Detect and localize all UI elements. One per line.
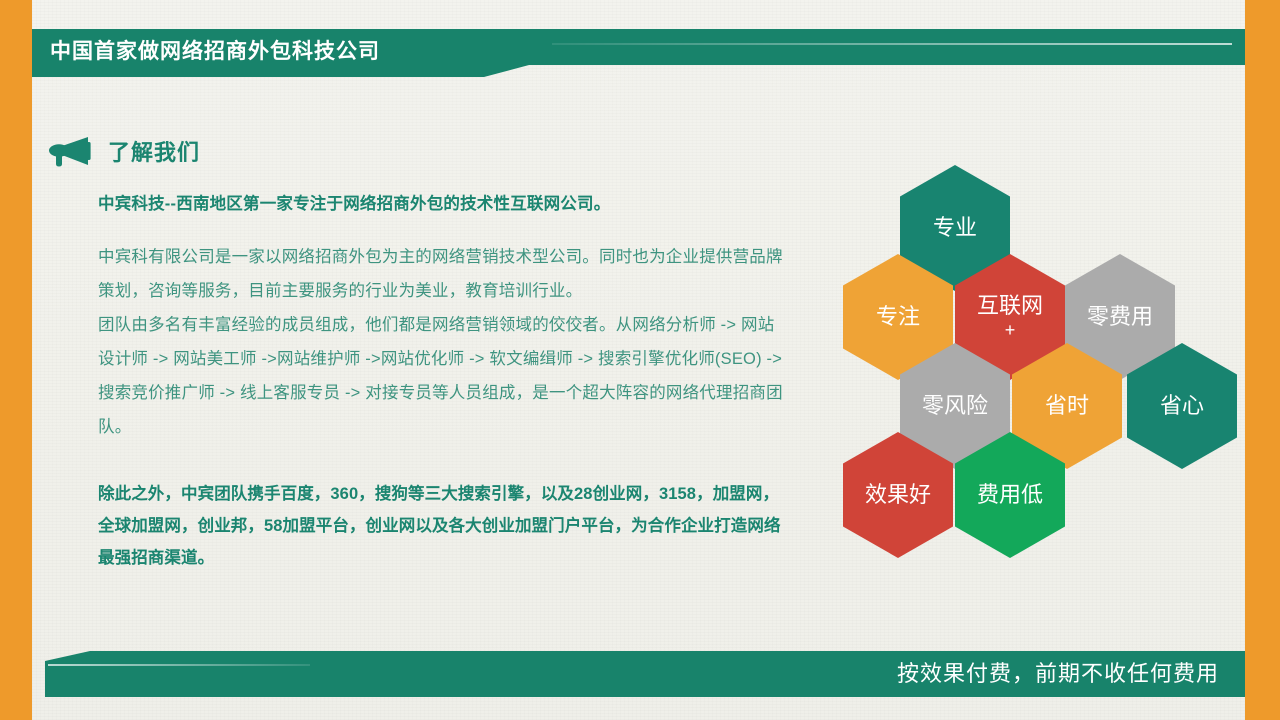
hexagon-label-main: 专注	[876, 304, 920, 330]
hexagon-label-sub: +	[1005, 319, 1016, 341]
frame-right	[1245, 0, 1280, 720]
footer-accent-line	[48, 664, 310, 666]
hexagon-label: 省心	[1127, 343, 1237, 469]
hexagon-label-main: 专业	[933, 215, 977, 241]
footer-band: 按效果付费，前期不收任何费用	[32, 651, 1245, 697]
header-accent-line	[552, 43, 1232, 45]
section-title: 了解我们	[108, 135, 200, 167]
hexagon-效果好[interactable]: 效果好	[843, 432, 953, 558]
hexagon-label: 效果好	[843, 432, 953, 558]
slide-canvas: 专业专注互联网+零费用零风险省时省心效果好费用低 中国首家做网络招商外包科技公司…	[0, 0, 1280, 720]
lead-paragraph: 中宾科技--西南地区第一家专注于网络招商外包的技术性互联网公司。	[98, 190, 788, 218]
megaphone-icon	[48, 135, 92, 167]
hexagon-label-main: 效果好	[865, 482, 931, 508]
hexagon-label-main: 零费用	[1087, 304, 1153, 330]
hexagon-label: 费用低	[955, 432, 1065, 558]
footer: 按效果付费，前期不收任何费用	[32, 651, 1245, 699]
footer-tagline: 按效果付费，前期不收任何费用	[897, 658, 1219, 690]
hexagon-label-main: 费用低	[977, 482, 1043, 508]
paragraph-1: 中宾科有限公司是一家以网络招商外包为主的网络营销技术型公司。同时也为企业提供营品…	[98, 240, 788, 308]
hexagon-费用低[interactable]: 费用低	[955, 432, 1065, 558]
hexagon-label-main: 互联网	[977, 293, 1043, 319]
hexagon-label-main: 省时	[1045, 393, 1089, 419]
frame-left	[0, 0, 32, 720]
page-title: 中国首家做网络招商外包科技公司	[50, 37, 380, 67]
header: 中国首家做网络招商外包科技公司	[32, 29, 1245, 81]
hexagon-label-main: 省心	[1160, 393, 1204, 419]
paragraph-2: 团队由多名有丰富经验的成员组成，他们都是网络营销领域的佼佼者。从网络分析师 ->…	[98, 308, 788, 444]
section-heading: 了解我们	[48, 131, 200, 171]
hexagon-label-main: 零风险	[922, 393, 988, 419]
hexagon-省心[interactable]: 省心	[1127, 343, 1237, 469]
header-band: 中国首家做网络招商外包科技公司	[32, 29, 1245, 77]
body-copy: 中宾科技--西南地区第一家专注于网络招商外包的技术性互联网公司。 中宾科有限公司…	[98, 190, 788, 574]
closing-paragraph: 除此之外，中宾团队携手百度，360，搜狗等三大搜索引擎，以及28创业网，3158…	[98, 478, 788, 574]
